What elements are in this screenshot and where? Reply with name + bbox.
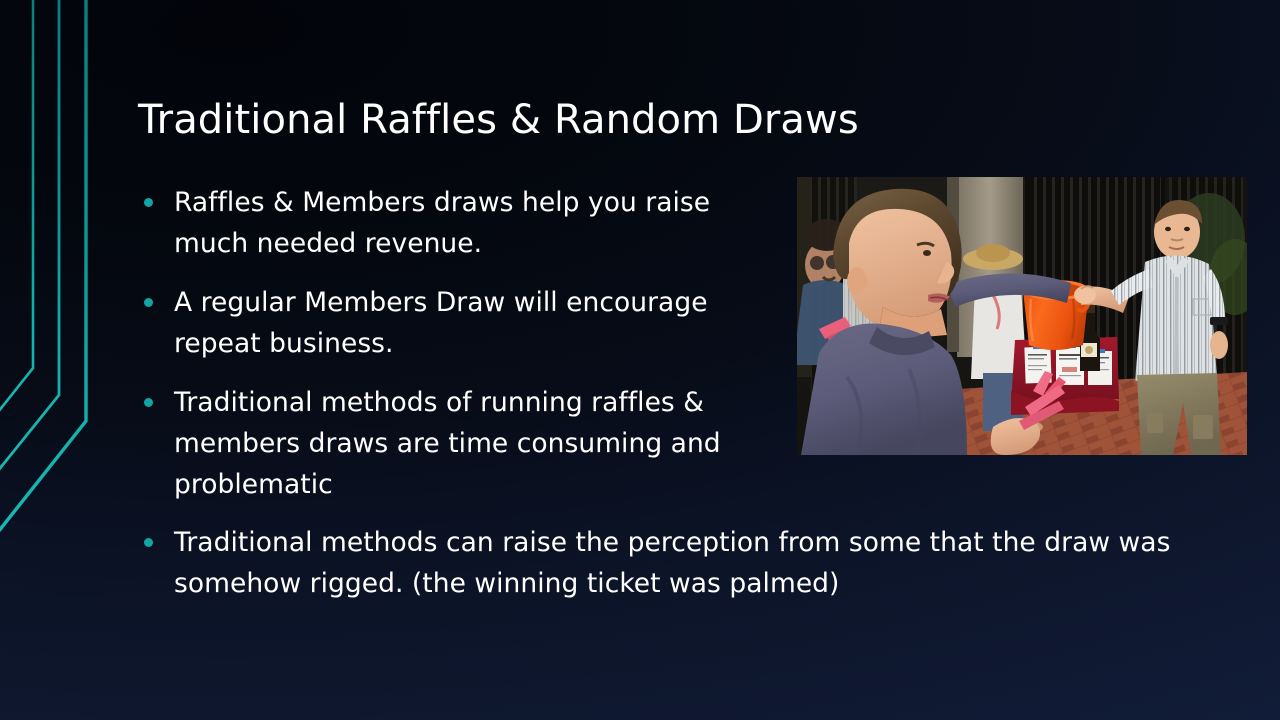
bullet-dot-icon	[144, 298, 153, 307]
deco-line-outer	[0, 0, 86, 580]
list-item-text: Raffles & Members draws help you raise m…	[174, 182, 734, 264]
list-item: Traditional methods can raise the percep…	[138, 522, 1174, 604]
list-item-text: Traditional methods can raise the percep…	[174, 522, 1174, 604]
slide-photo	[797, 177, 1247, 455]
bullet-dot-icon	[144, 538, 153, 547]
list-item: Raffles & Members draws help you raise m…	[138, 182, 734, 264]
list-item-text: Traditional methods of running raffles &…	[174, 382, 814, 505]
bullet-dot-icon	[144, 198, 153, 207]
photo-illustration	[797, 177, 1247, 455]
list-item: A regular Members Draw will encourage re…	[138, 282, 734, 364]
slide: Traditional Raffles & Random Draws Raffl…	[0, 0, 1280, 720]
slide-title: Traditional Raffles & Random Draws	[138, 96, 1138, 144]
list-item-text: A regular Members Draw will encourage re…	[174, 282, 734, 364]
deco-line-middle	[0, 0, 59, 518]
bullet-dot-icon	[144, 398, 153, 407]
list-item: Traditional methods of running raffles &…	[138, 382, 814, 505]
deco-line-inner	[0, 0, 33, 460]
